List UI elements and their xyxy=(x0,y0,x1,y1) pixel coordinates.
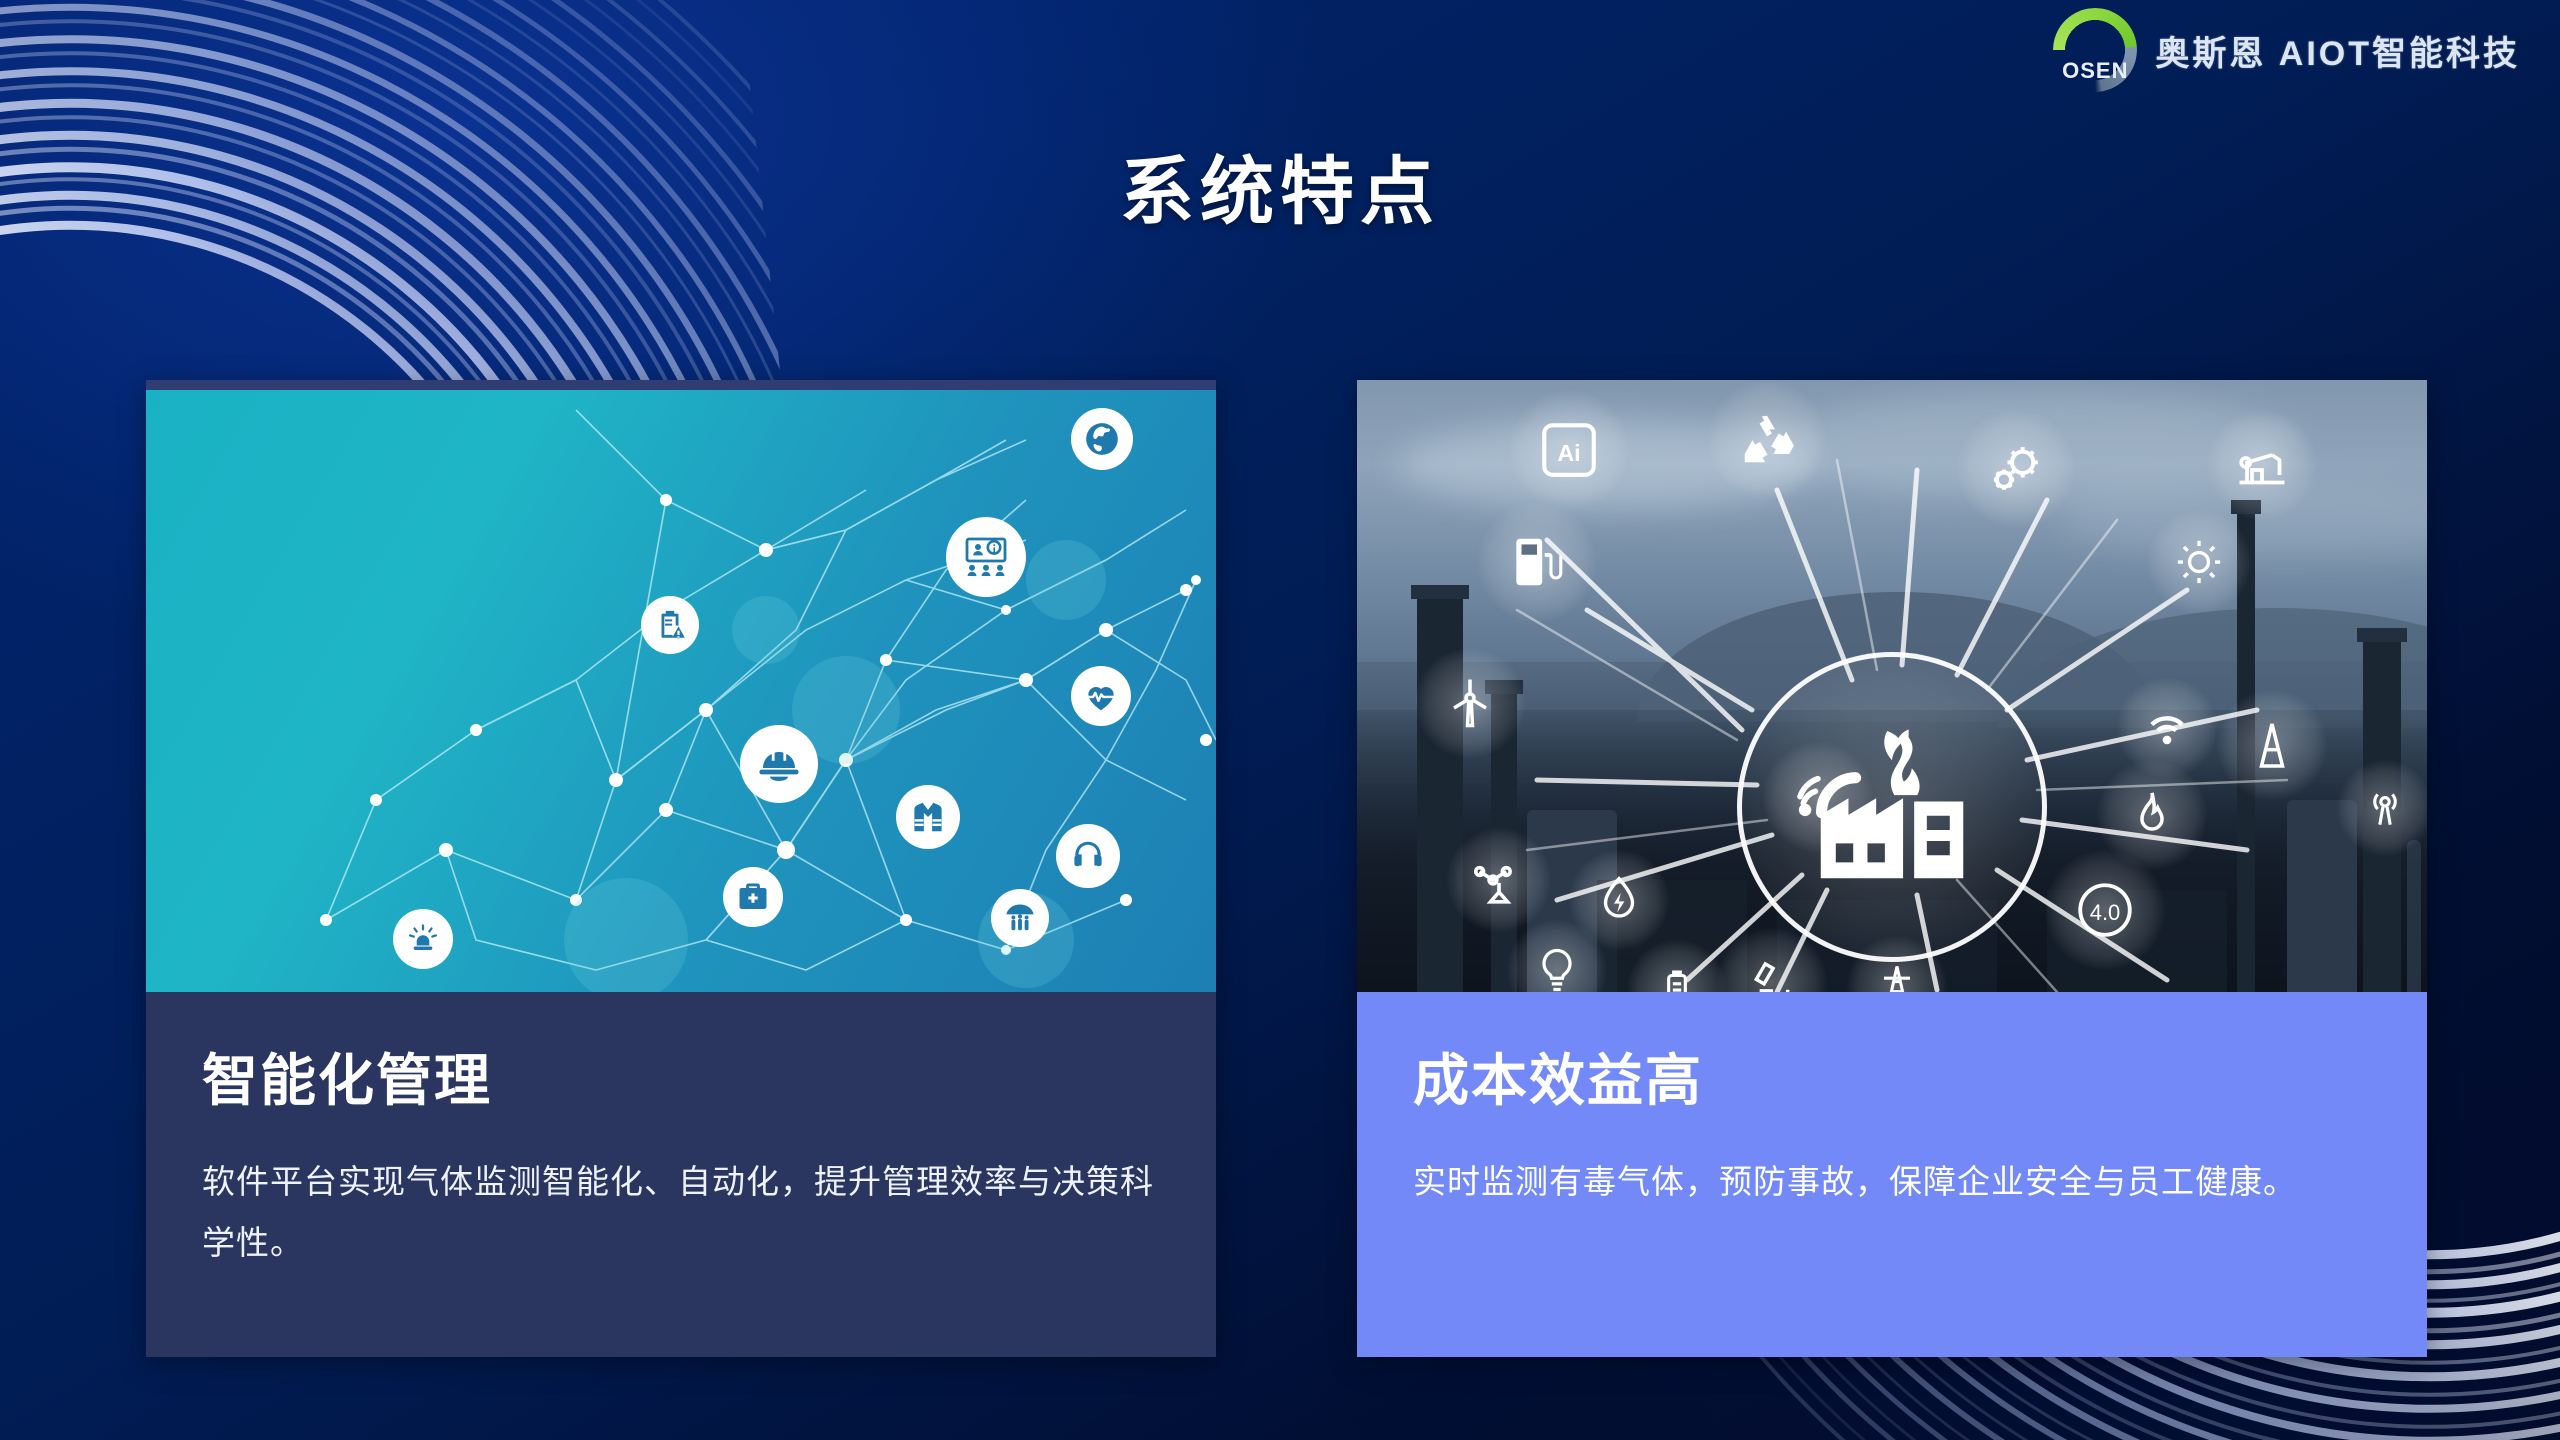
robot-arm-icon xyxy=(1447,828,1551,932)
page-title: 系统特点 xyxy=(0,132,2560,239)
gears-icon xyxy=(1957,410,2075,528)
card-heading-left: 智能化管理 xyxy=(202,1036,1160,1117)
clipboard-warning-icon xyxy=(641,596,699,654)
teal-network-illustration xyxy=(146,380,1216,992)
card-media-left xyxy=(146,380,1216,992)
signal-tower-icon xyxy=(2337,760,2427,856)
industrial-iot-photo: Ai xyxy=(1357,380,2427,992)
svg-text:Ai: Ai xyxy=(1557,440,1580,466)
heart-pulse-icon xyxy=(1071,666,1131,726)
training-presentation-icon xyxy=(946,517,1026,597)
umbrella-protection-icon xyxy=(991,889,1049,947)
hard-hat-icon xyxy=(740,725,818,803)
logo-mark-text: OSEN xyxy=(2053,58,2137,84)
svg-text:4.0: 4.0 xyxy=(2090,900,2121,925)
gas-pump-icon xyxy=(1477,502,1597,622)
alarm-siren-icon xyxy=(393,909,453,969)
safety-vest-icon xyxy=(896,785,960,849)
recycle-icon xyxy=(1707,380,1827,500)
feature-card-intelligent-management[interactable]: 智能化管理 软件平台实现气体监测智能化、自动化，提升管理效率与决策科学性。 xyxy=(146,380,1216,1357)
slide-root: OSEN 奥斯恩 AIOT智能科技 系统特点 xyxy=(0,0,2560,1440)
card-heading-right: 成本效益高 xyxy=(1413,1036,2371,1117)
feature-card-cost-effective[interactable]: Ai xyxy=(1357,380,2427,1357)
antenna-icon xyxy=(2217,690,2327,800)
card-description-right: 实时监测有毒气体，预防事故，保障企业安全与员工健康。 xyxy=(1413,1151,2371,1212)
company-name: 奥斯恩 AIOT智能科技 xyxy=(2155,26,2520,75)
globe-leaf-icon xyxy=(1071,408,1133,470)
brand-logo: OSEN 奥斯恩 AIOT智能科技 xyxy=(2053,8,2520,92)
wifi-signal-icon xyxy=(1763,742,1873,852)
card-body-right: 成本效益高 实时监测有毒气体，预防事故，保障企业安全与员工健康。 xyxy=(1357,992,2427,1357)
osen-logo-icon: OSEN xyxy=(2053,8,2137,92)
card-body-left: 智能化管理 软件平台实现气体监测智能化、自动化，提升管理效率与决策科学性。 xyxy=(146,992,1216,1357)
card-media-right: Ai xyxy=(1357,380,2427,992)
headset-icon xyxy=(1056,824,1120,888)
wifi-node-icon xyxy=(2117,678,2217,778)
wind-turbine-icon xyxy=(1415,648,1525,758)
card-description-left: 软件平台实现气体监测智能化、自动化，提升管理效率与决策科学性。 xyxy=(202,1151,1160,1273)
ai-chip-icon: Ai xyxy=(1509,390,1629,510)
sun-icon xyxy=(2147,510,2251,614)
pumpjack-icon xyxy=(2207,410,2317,520)
first-aid-kit-icon xyxy=(723,867,783,927)
flame-icon xyxy=(2097,760,2207,870)
